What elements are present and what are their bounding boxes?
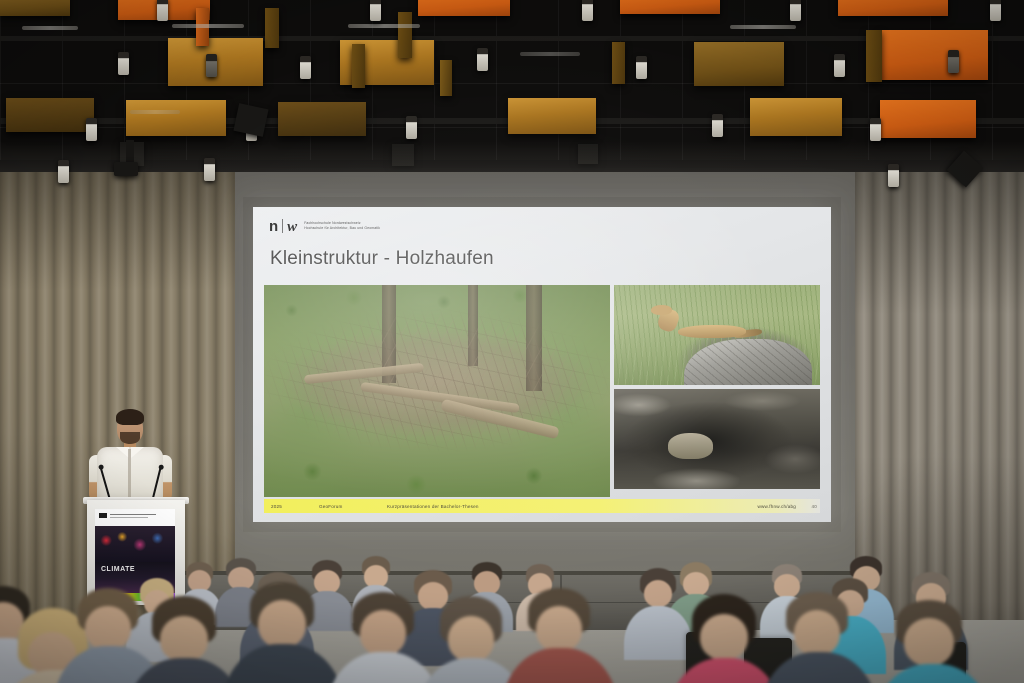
audience-head — [774, 574, 800, 598]
ceiling-baffle-edge — [352, 44, 365, 88]
audience-head — [683, 572, 709, 596]
ceiling-lamp-housing — [114, 162, 138, 176]
ceiling-downlight — [790, 0, 801, 21]
slide-photo-column: Quellen: Naturschutz & Umwelt, Beobachtu… — [614, 285, 820, 497]
audience-head — [258, 600, 306, 648]
logo-divider — [282, 219, 283, 233]
small-animal — [668, 433, 713, 459]
weasel-photo — [614, 285, 820, 385]
ceiling-baffle-edge — [398, 12, 412, 58]
weasel-body — [678, 325, 746, 338]
speaker-beard — [120, 432, 140, 444]
audience-head — [360, 610, 406, 656]
logo-mark: n w — [269, 217, 297, 235]
ceiling-light-falloff — [0, 120, 1024, 172]
audience-head — [85, 606, 131, 650]
logo-wordmark: Fachhochschule Nordwestschweiz Hochschul… — [304, 217, 380, 231]
ceiling-baffle — [620, 0, 720, 14]
ceiling-downlight — [636, 56, 647, 79]
burrow-rocks — [614, 389, 820, 489]
strip-light — [730, 25, 796, 29]
wall-downlight — [58, 160, 69, 183]
ceiling-downlight — [834, 54, 845, 77]
ceiling-baffle — [880, 30, 988, 80]
ceiling-baffle — [694, 42, 784, 86]
weasel-head — [651, 305, 672, 315]
slide-title: Kleinstruktur - Holzhaufen — [270, 248, 494, 270]
ceiling-downlight — [948, 50, 959, 73]
ceiling-downlight — [990, 0, 1001, 21]
ceiling-baffle-edge — [265, 8, 279, 48]
ceiling-downlight — [118, 52, 129, 75]
ceiling-downlight — [206, 54, 217, 77]
audience-shoulders — [502, 648, 618, 683]
audience-head — [536, 606, 582, 652]
ceiling-downlight — [370, 0, 381, 21]
strip-light — [348, 24, 420, 28]
audience-head — [700, 614, 748, 660]
logo-line-1: Fachhochschule Nordwestschweiz — [304, 221, 361, 225]
speaker-hair — [116, 409, 144, 425]
projected-slide: n w Fachhochschule Nordwestschweiz Hochs… — [253, 207, 831, 522]
ceiling-baffle-edge — [440, 60, 452, 96]
ceiling-baffle-edge — [866, 30, 882, 82]
ceiling-baffle — [0, 0, 70, 16]
logo-letter-w: w — [287, 220, 297, 235]
woodpile-branches — [264, 285, 610, 497]
woodpile-photo — [264, 285, 610, 497]
logo-line-2: Hochschule für Architektur, Bau und Geom… — [304, 226, 380, 230]
audience-shoulders — [874, 664, 992, 683]
ceiling-downlight — [582, 0, 593, 21]
wall-downlight — [204, 158, 215, 181]
pendant-rod — [126, 140, 134, 164]
strip-light — [520, 52, 580, 56]
ceiling-baffle — [418, 0, 510, 16]
audience-head — [644, 580, 672, 607]
ceiling-structure — [0, 0, 1024, 172]
audience-head — [418, 582, 448, 610]
slide-photo-grid: Quellen: Naturschutz & Umwelt, Beobachtu… — [264, 285, 820, 497]
ceiling-baffle — [838, 0, 948, 16]
ceiling-downlight — [300, 56, 311, 79]
audience-head — [448, 616, 494, 662]
strip-light — [22, 26, 78, 30]
ceiling-baffle-edge — [612, 42, 625, 84]
wall-downlight — [888, 164, 899, 187]
ceiling-downlight — [477, 48, 488, 71]
audience-head — [794, 610, 840, 656]
audience-head — [904, 618, 954, 666]
strip-light — [172, 24, 244, 28]
ceiling-downlight — [157, 0, 168, 21]
burrow-photo: Quellen: Naturschutz & Umwelt, Beobachtu… — [614, 389, 820, 489]
conference-photo-scene: n w Fachhochschule Nordwestschweiz Hochs… — [0, 0, 1024, 683]
audience — [0, 500, 1024, 683]
fhnw-logo: n w Fachhochschule Nordwestschweiz Hochs… — [269, 217, 380, 235]
strip-light — [130, 110, 180, 114]
audience-head — [160, 616, 208, 662]
logo-letter-n: n — [269, 219, 278, 234]
